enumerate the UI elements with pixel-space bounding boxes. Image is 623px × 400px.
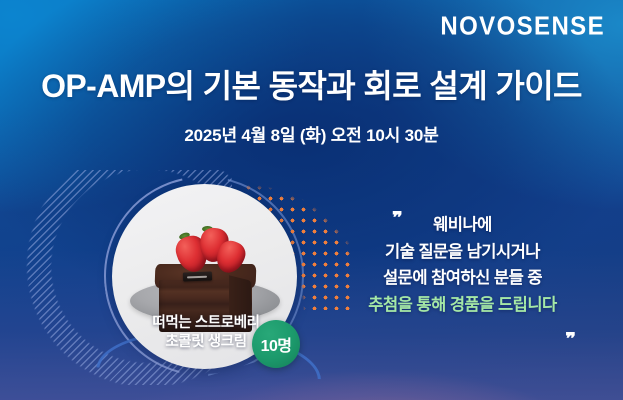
novosense-logo: NOVOSENSE — [440, 14, 605, 39]
quote-line-4: 추첨을 통해 경품을 드립니다 — [330, 292, 595, 319]
chocolate-plaque — [182, 271, 211, 281]
quote-block: ❞ 웨비나에 기술 질문을 남기시거나 설문에 참여하신 분들 중 추첨을 통해… — [330, 212, 595, 319]
quote-line-2: 기술 질문을 남기시거나 — [330, 239, 595, 266]
webinar-promo-banner: NOVOSENSE OP-AMP의 기본 동작과 회로 설계 가이드 2025년… — [0, 0, 623, 400]
quote-close-mark: ❞ — [565, 331, 575, 347]
quote-line-1: 웨비나에 — [330, 212, 595, 239]
webinar-datetime: 2025년 4월 8일 (화) 오전 10시 30분 — [0, 126, 623, 146]
quote-line-3: 설문에 참여하신 분들 중 — [330, 265, 595, 292]
prize-quantity-badge: 10명 — [252, 320, 300, 368]
quote-open-mark: ❞ — [392, 210, 402, 226]
page-title: OP-AMP의 기본 동작과 회로 설계 가이드 — [0, 68, 623, 106]
